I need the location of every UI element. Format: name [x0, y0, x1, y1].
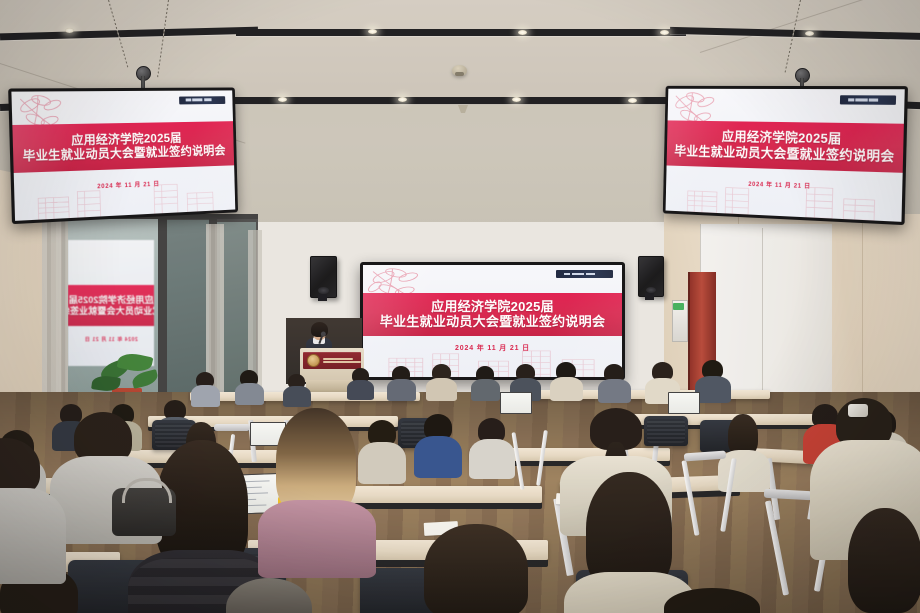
ceiling-downlight [512, 97, 521, 102]
slide-title-band: 应用经济学院2025届 毕业生就业动员大会暨就业签约说明会 [363, 293, 622, 336]
torso [235, 383, 264, 405]
slide-title-line-2: 毕业生就业动员大会暨就业签约说明会 [22, 144, 225, 164]
university-logo-bar [556, 270, 613, 278]
reflection-line1: 应用经济学院2025届 [69, 295, 154, 306]
hair-clip-icon [848, 404, 868, 417]
slide-title-line-1: 应用经济学院2025届 [431, 299, 554, 314]
torso [550, 377, 583, 401]
slide-title-line-2: 毕业生就业动员大会暨就业签约说明会 [380, 314, 605, 329]
right-ceiling-monitor[interactable]: 应用经济学院2025届 毕业生就业动员大会暨就业签约说明会 2024 年 11 … [663, 86, 908, 225]
ceiling-light-channel [236, 29, 686, 36]
speaker-bracket [645, 293, 654, 300]
left-monitor-surface: 应用经济学院2025届 毕业生就业动员大会暨就业签约说明会 2024 年 11 … [11, 90, 235, 220]
torso [258, 500, 376, 578]
torso [387, 379, 416, 401]
wall-speaker [638, 256, 664, 297]
reflection-line2: 毕业生就业动员大会暨就业签约说明会 [68, 306, 154, 317]
torso [347, 380, 374, 400]
ceiling-downlight [398, 97, 407, 102]
presentation-slide: 应用经济学院2025届 毕业生就业动员大会暨就业签约说明会 2024 年 11 … [363, 265, 622, 377]
main-projection-screen[interactable]: 应用经济学院2025届 毕业生就业动员大会暨就业签约说明会 2024 年 11 … [360, 262, 625, 380]
main-screen-surface: 应用经济学院2025届 毕业生就业动员大会暨就业签约说明会 2024 年 11 … [363, 265, 622, 377]
laptop[interactable] [668, 392, 700, 414]
ceiling-light-channel [226, 97, 694, 104]
torso [471, 379, 500, 401]
podium-banner-text [323, 358, 361, 363]
speaker-bracket [318, 294, 327, 301]
ceiling-downlight [368, 29, 377, 34]
university-logo-bar [179, 96, 225, 105]
presenter-hair [311, 322, 328, 337]
slide-title-band: 应用经济学院2025届 毕业生就业动员大会暨就业签约说明会 [667, 120, 904, 172]
presentation-slide: 应用经济学院2025届 毕业生就业动员大会暨就业签约说明会 2024 年 11 … [11, 90, 235, 220]
long-hair [424, 524, 528, 613]
torso [469, 439, 515, 479]
torso [283, 386, 311, 407]
right-monitor-surface: 应用经济学院2025届 毕业生就业动员大会暨就业签约说明会 2024 年 11 … [666, 89, 905, 222]
chair-armrest [214, 424, 250, 431]
torso [358, 442, 406, 484]
ceiling-downlight [278, 97, 287, 102]
wall-speaker [310, 256, 337, 298]
slide-reflection-in-window: 应用经济学院2025届 毕业生就业动员大会暨就业签约说明会 2024 年 11 … [68, 240, 154, 366]
torso [695, 376, 731, 403]
reflection-date: 2024 年 11 月 21 日 [68, 336, 154, 343]
chair-mesh [647, 419, 685, 443]
lecture-hall-photo: 应用经济学院2025届 毕业生就业动员大会暨就业签约说明会 2024 年 11 … [0, 0, 920, 613]
podium-banner [303, 352, 361, 369]
smoke-detector-icon [452, 65, 467, 76]
torso [598, 379, 631, 403]
long-hair [848, 508, 920, 613]
torso [426, 378, 457, 401]
slide-title-band: 应用经济学院2025届 毕业生就业动员大会暨就业签约说明会 [12, 121, 234, 173]
torso [414, 436, 462, 478]
ceiling-downlight [660, 30, 669, 35]
slide-title-line-2: 毕业生就业动员大会暨就业签约说明会 [674, 143, 894, 164]
torso [191, 385, 220, 407]
university-logo-bar [840, 95, 895, 104]
torso [0, 488, 66, 584]
ceiling-downlight [65, 28, 74, 33]
laptop[interactable] [500, 392, 532, 414]
university-seal-icon [307, 354, 320, 367]
ceiling-downlight [805, 31, 814, 36]
ceiling-downlight [628, 98, 637, 103]
exit-sign-icon [673, 303, 684, 310]
ceiling-downlight [518, 30, 527, 35]
left-ceiling-monitor[interactable]: 应用经济学院2025届 毕业生就业动员大会暨就业签约说明会 2024 年 11 … [8, 87, 238, 224]
presentation-slide: 应用经济学院2025届 毕业生就业动员大会暨就业签约说明会 2024 年 11 … [666, 89, 905, 222]
